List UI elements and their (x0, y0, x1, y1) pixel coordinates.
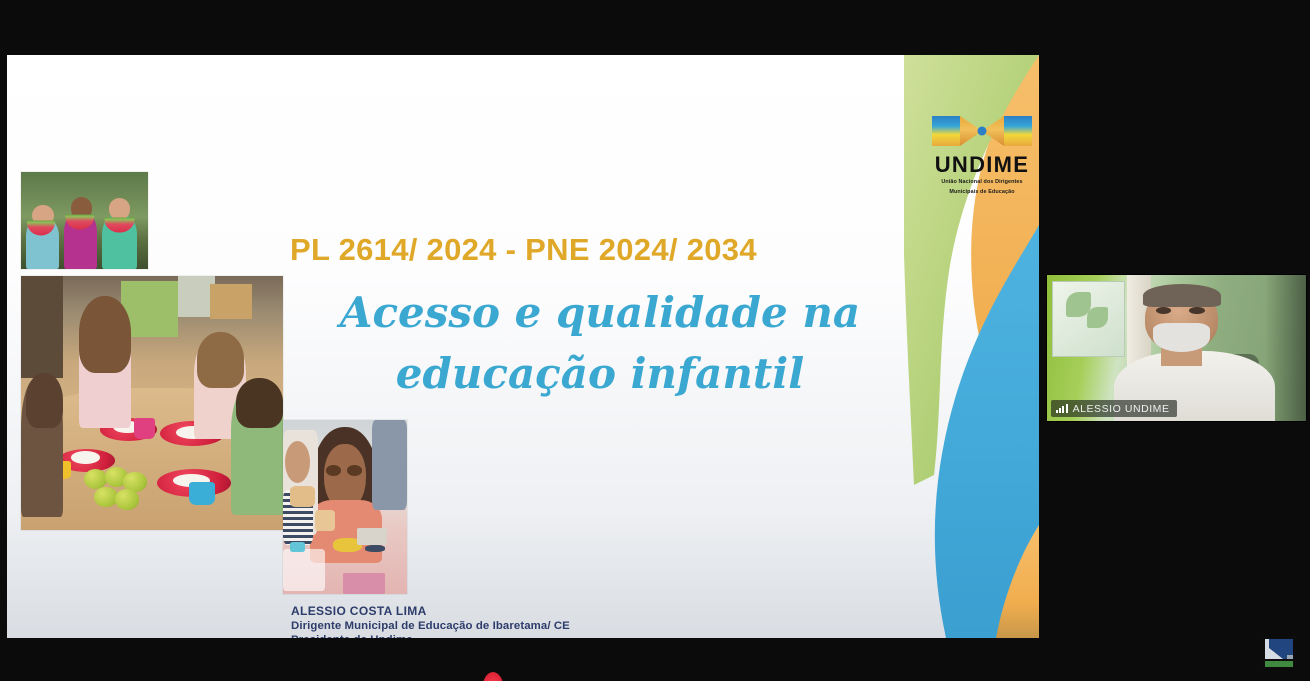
signal-bars-icon (1056, 404, 1068, 413)
participant-video-tile[interactable]: ALESSIO UNDIME (1046, 274, 1307, 422)
speaker-role-line2: Presidente da Undime (291, 633, 570, 638)
slide-title-main: PL 2614/ 2024 - PNE 2024/ 2034 (290, 232, 757, 268)
wall-picture-frame (1052, 281, 1125, 357)
participant-hair (1143, 284, 1221, 307)
photo-children-watermelon (21, 172, 148, 269)
undime-tagline-line1: União Nacional dos Dirigentes (926, 179, 1038, 186)
undime-tagline-line2: Municipais de Educação (926, 189, 1038, 196)
photo-classroom-lunch (21, 276, 283, 530)
speaker-name: ALESSIO COSTA LIMA (291, 604, 570, 619)
slide-title-script: Acesso e qualidade na educação infantil (290, 283, 910, 405)
presentation-slide: UNDIME União Nacional dos Dirigentes Mun… (7, 55, 1039, 638)
screen-share-icon[interactable] (1257, 633, 1301, 671)
speaker-role-line1: Dirigente Municipal de Educação de Ibare… (291, 619, 570, 634)
slide-title-script-line1: Acesso e qualidade na (290, 283, 910, 344)
undime-wordmark: UNDIME (926, 154, 1038, 176)
photo-girl-with-sandwich (283, 420, 407, 594)
participant-name-label: ALESSIO UNDIME (1051, 400, 1177, 417)
record-dot-icon[interactable] (482, 672, 504, 681)
slide-title-script-line2: educação infantil (290, 344, 910, 405)
undime-logo-mark (930, 113, 1034, 153)
participant-name-text: ALESSIO UNDIME (1073, 403, 1170, 415)
speaker-contact-block: ALESSIO COSTA LIMA Dirigente Municipal d… (291, 604, 570, 638)
undime-logo: UNDIME União Nacional dos Dirigentes Mun… (926, 113, 1038, 191)
screen-root: UNDIME União Nacional dos Dirigentes Mun… (0, 0, 1310, 681)
